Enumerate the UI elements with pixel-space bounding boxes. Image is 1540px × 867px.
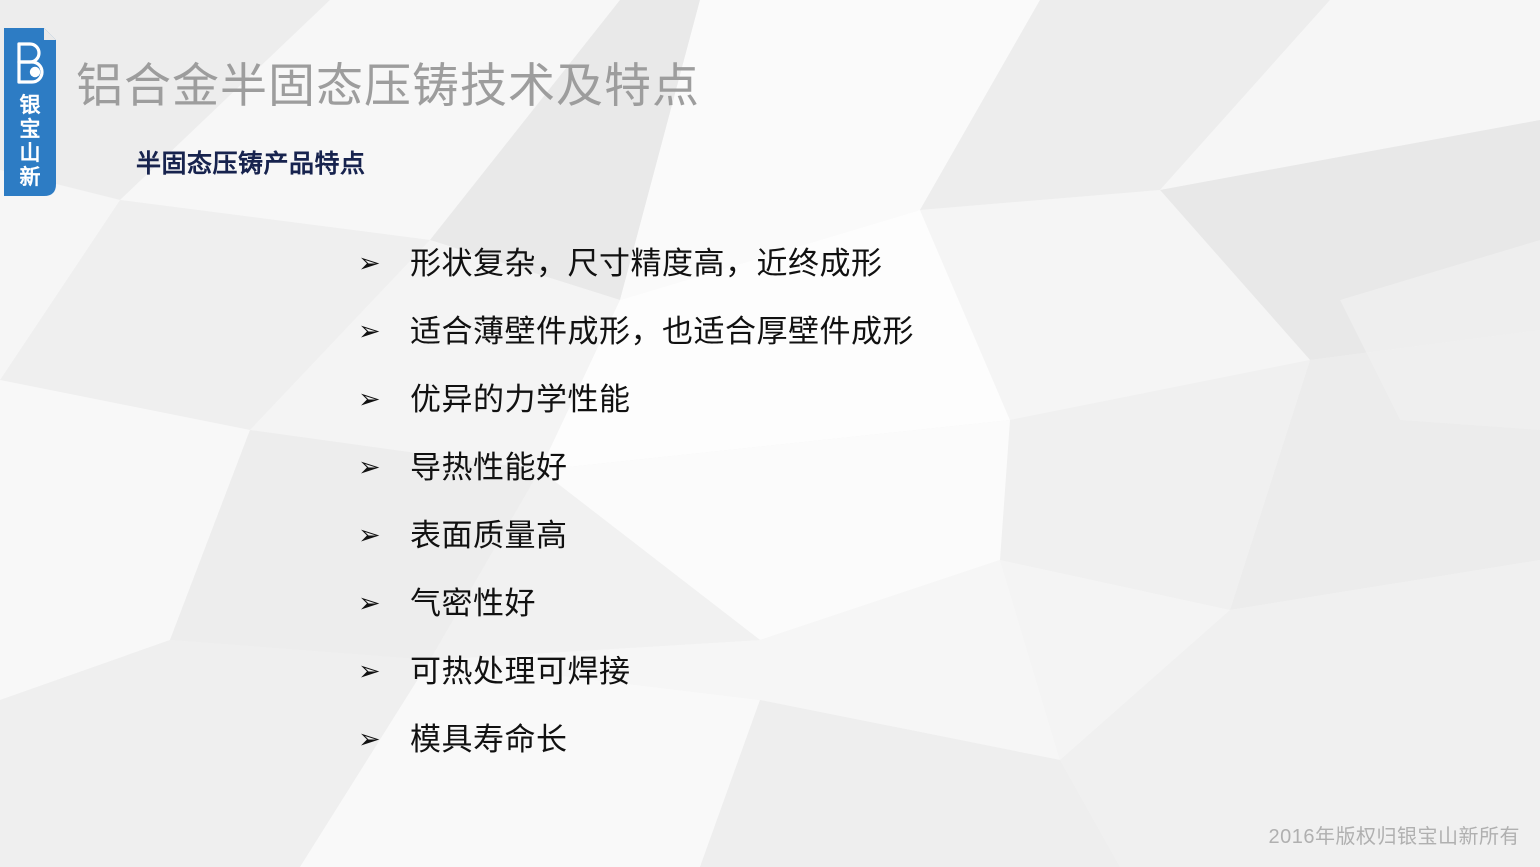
company-logo: 银 宝 山 新 xyxy=(4,28,56,196)
arrow-bullet-icon: ➢ xyxy=(358,516,410,556)
arrow-bullet-icon: ➢ xyxy=(358,312,410,352)
list-item-label: 适合薄壁件成形，也适合厚壁件成形 xyxy=(410,312,914,352)
arrow-bullet-icon: ➢ xyxy=(358,584,410,624)
list-item: ➢ 导热性能好 xyxy=(358,448,1358,516)
list-item-label: 气密性好 xyxy=(410,584,536,624)
logo-corner-fold xyxy=(44,28,56,40)
list-item-label: 导热性能好 xyxy=(410,448,568,488)
arrow-bullet-icon: ➢ xyxy=(358,244,410,284)
list-item-label: 模具寿命长 xyxy=(410,720,568,760)
logo-char-2: 山 xyxy=(20,142,41,166)
page-title: 铝合金半固态压铸技术及特点 xyxy=(76,62,700,109)
list-item-label: 优异的力学性能 xyxy=(410,380,631,420)
list-item: ➢ 适合薄壁件成形，也适合厚壁件成形 xyxy=(358,312,1358,380)
arrow-bullet-icon: ➢ xyxy=(358,448,410,488)
list-item: ➢ 优异的力学性能 xyxy=(358,380,1358,448)
list-item-label: 表面质量高 xyxy=(410,516,568,556)
list-item-label: 可热处理可焊接 xyxy=(410,652,631,692)
arrow-bullet-icon: ➢ xyxy=(358,380,410,420)
list-item: ➢ 表面质量高 xyxy=(358,516,1358,584)
logo-char-3: 新 xyxy=(20,166,41,190)
list-item: ➢ 形状复杂，尺寸精度高，近终成形 xyxy=(358,244,1358,312)
logo-char-1: 宝 xyxy=(20,118,41,142)
arrow-bullet-icon: ➢ xyxy=(358,720,410,760)
slide-canvas: 银 宝 山 新 铝合金半固态压铸技术及特点 半固态压铸产品特点 ➢ 形状复杂，尺… xyxy=(0,0,1540,867)
copyright-footer: 2016年版权归银宝山新所有 xyxy=(1269,820,1521,849)
logo-b-dot xyxy=(30,67,40,77)
logo-char-0: 银 xyxy=(20,94,41,118)
list-item-label: 形状复杂，尺寸精度高，近终成形 xyxy=(410,244,883,284)
list-item: ➢ 模具寿命长 xyxy=(358,720,1358,788)
list-item: ➢ 可热处理可焊接 xyxy=(358,652,1358,720)
section-subtitle: 半固态压铸产品特点 xyxy=(136,152,366,177)
arrow-bullet-icon: ➢ xyxy=(358,652,410,692)
feature-bullet-list: ➢ 形状复杂，尺寸精度高，近终成形 ➢ 适合薄壁件成形，也适合厚壁件成形 ➢ 优… xyxy=(358,244,1358,788)
list-item: ➢ 气密性好 xyxy=(358,584,1358,652)
